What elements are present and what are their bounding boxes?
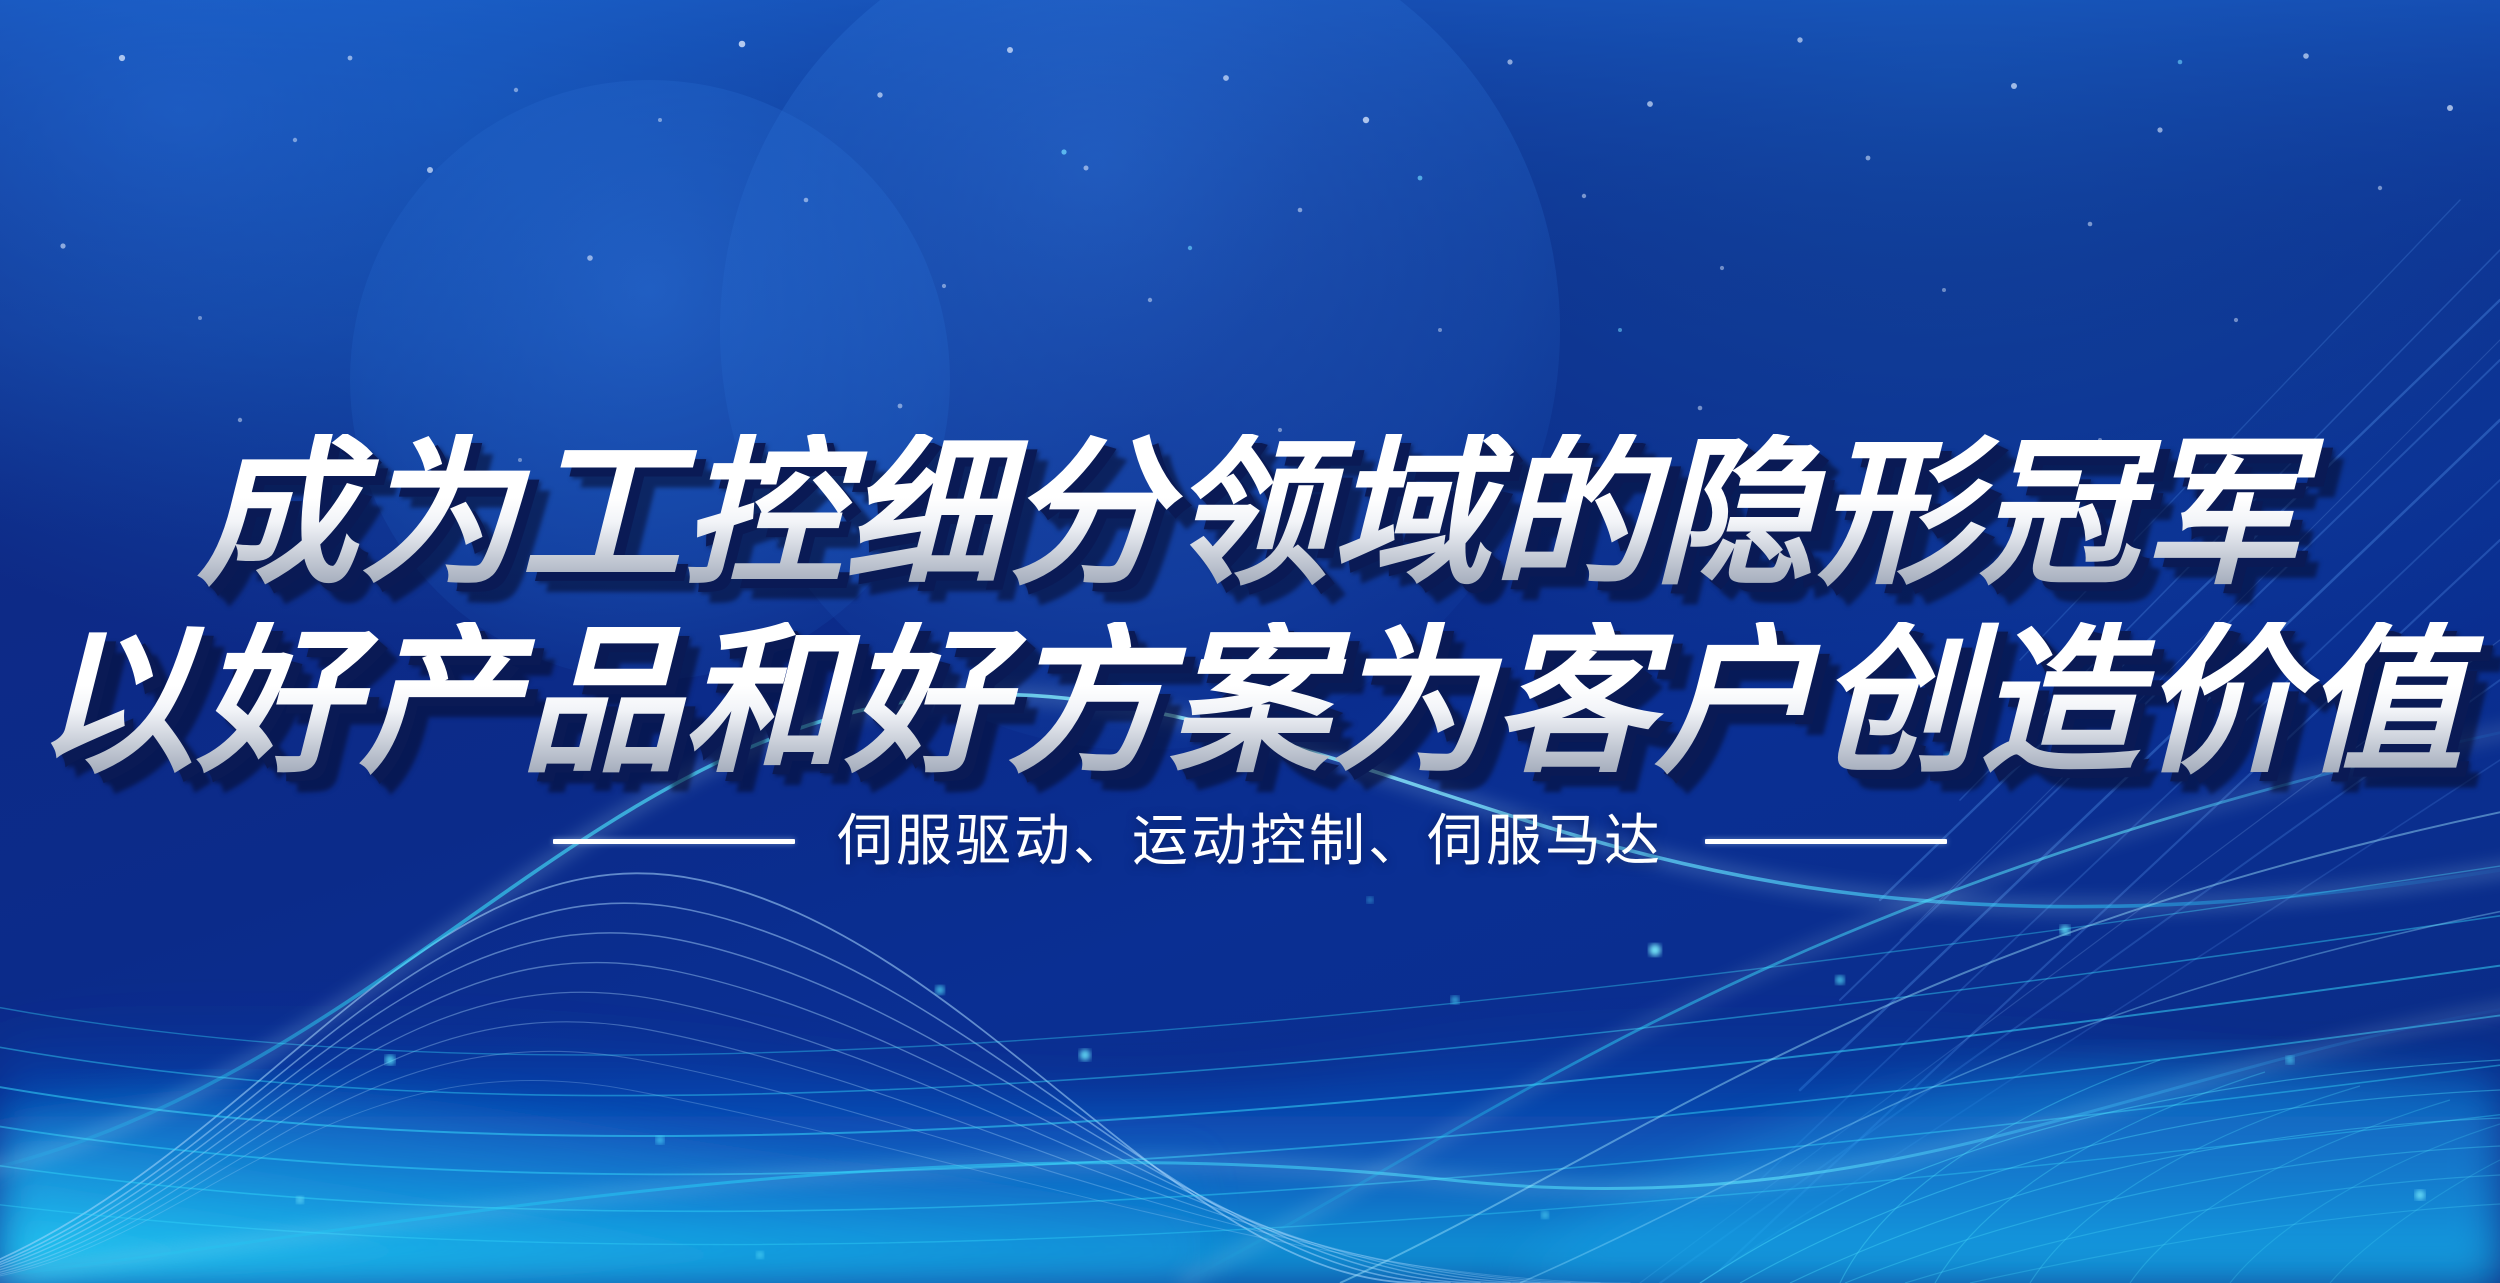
banner-subtitle: 伺服驱动、运动控制、伺服马达 (837, 806, 1663, 876)
banner-headline-line-2: 以好产品和好方案为客户创造价值 (0, 622, 2500, 782)
banner-content: 成为工控细分领域的隐形冠军 以好产品和好方案为客户创造价值 伺服驱动、运动控制、… (0, 0, 2500, 1283)
hero-banner: 成为工控细分领域的隐形冠军 以好产品和好方案为客户创造价值 伺服驱动、运动控制、… (0, 0, 2500, 1283)
subtitle-rule-right (1705, 839, 1947, 844)
banner-subtitle-row: 伺服驱动、运动控制、伺服马达 (0, 806, 2500, 876)
subtitle-rule-left (553, 839, 795, 844)
banner-headline-line-1: 成为工控细分领域的隐形冠军 (0, 434, 2500, 594)
